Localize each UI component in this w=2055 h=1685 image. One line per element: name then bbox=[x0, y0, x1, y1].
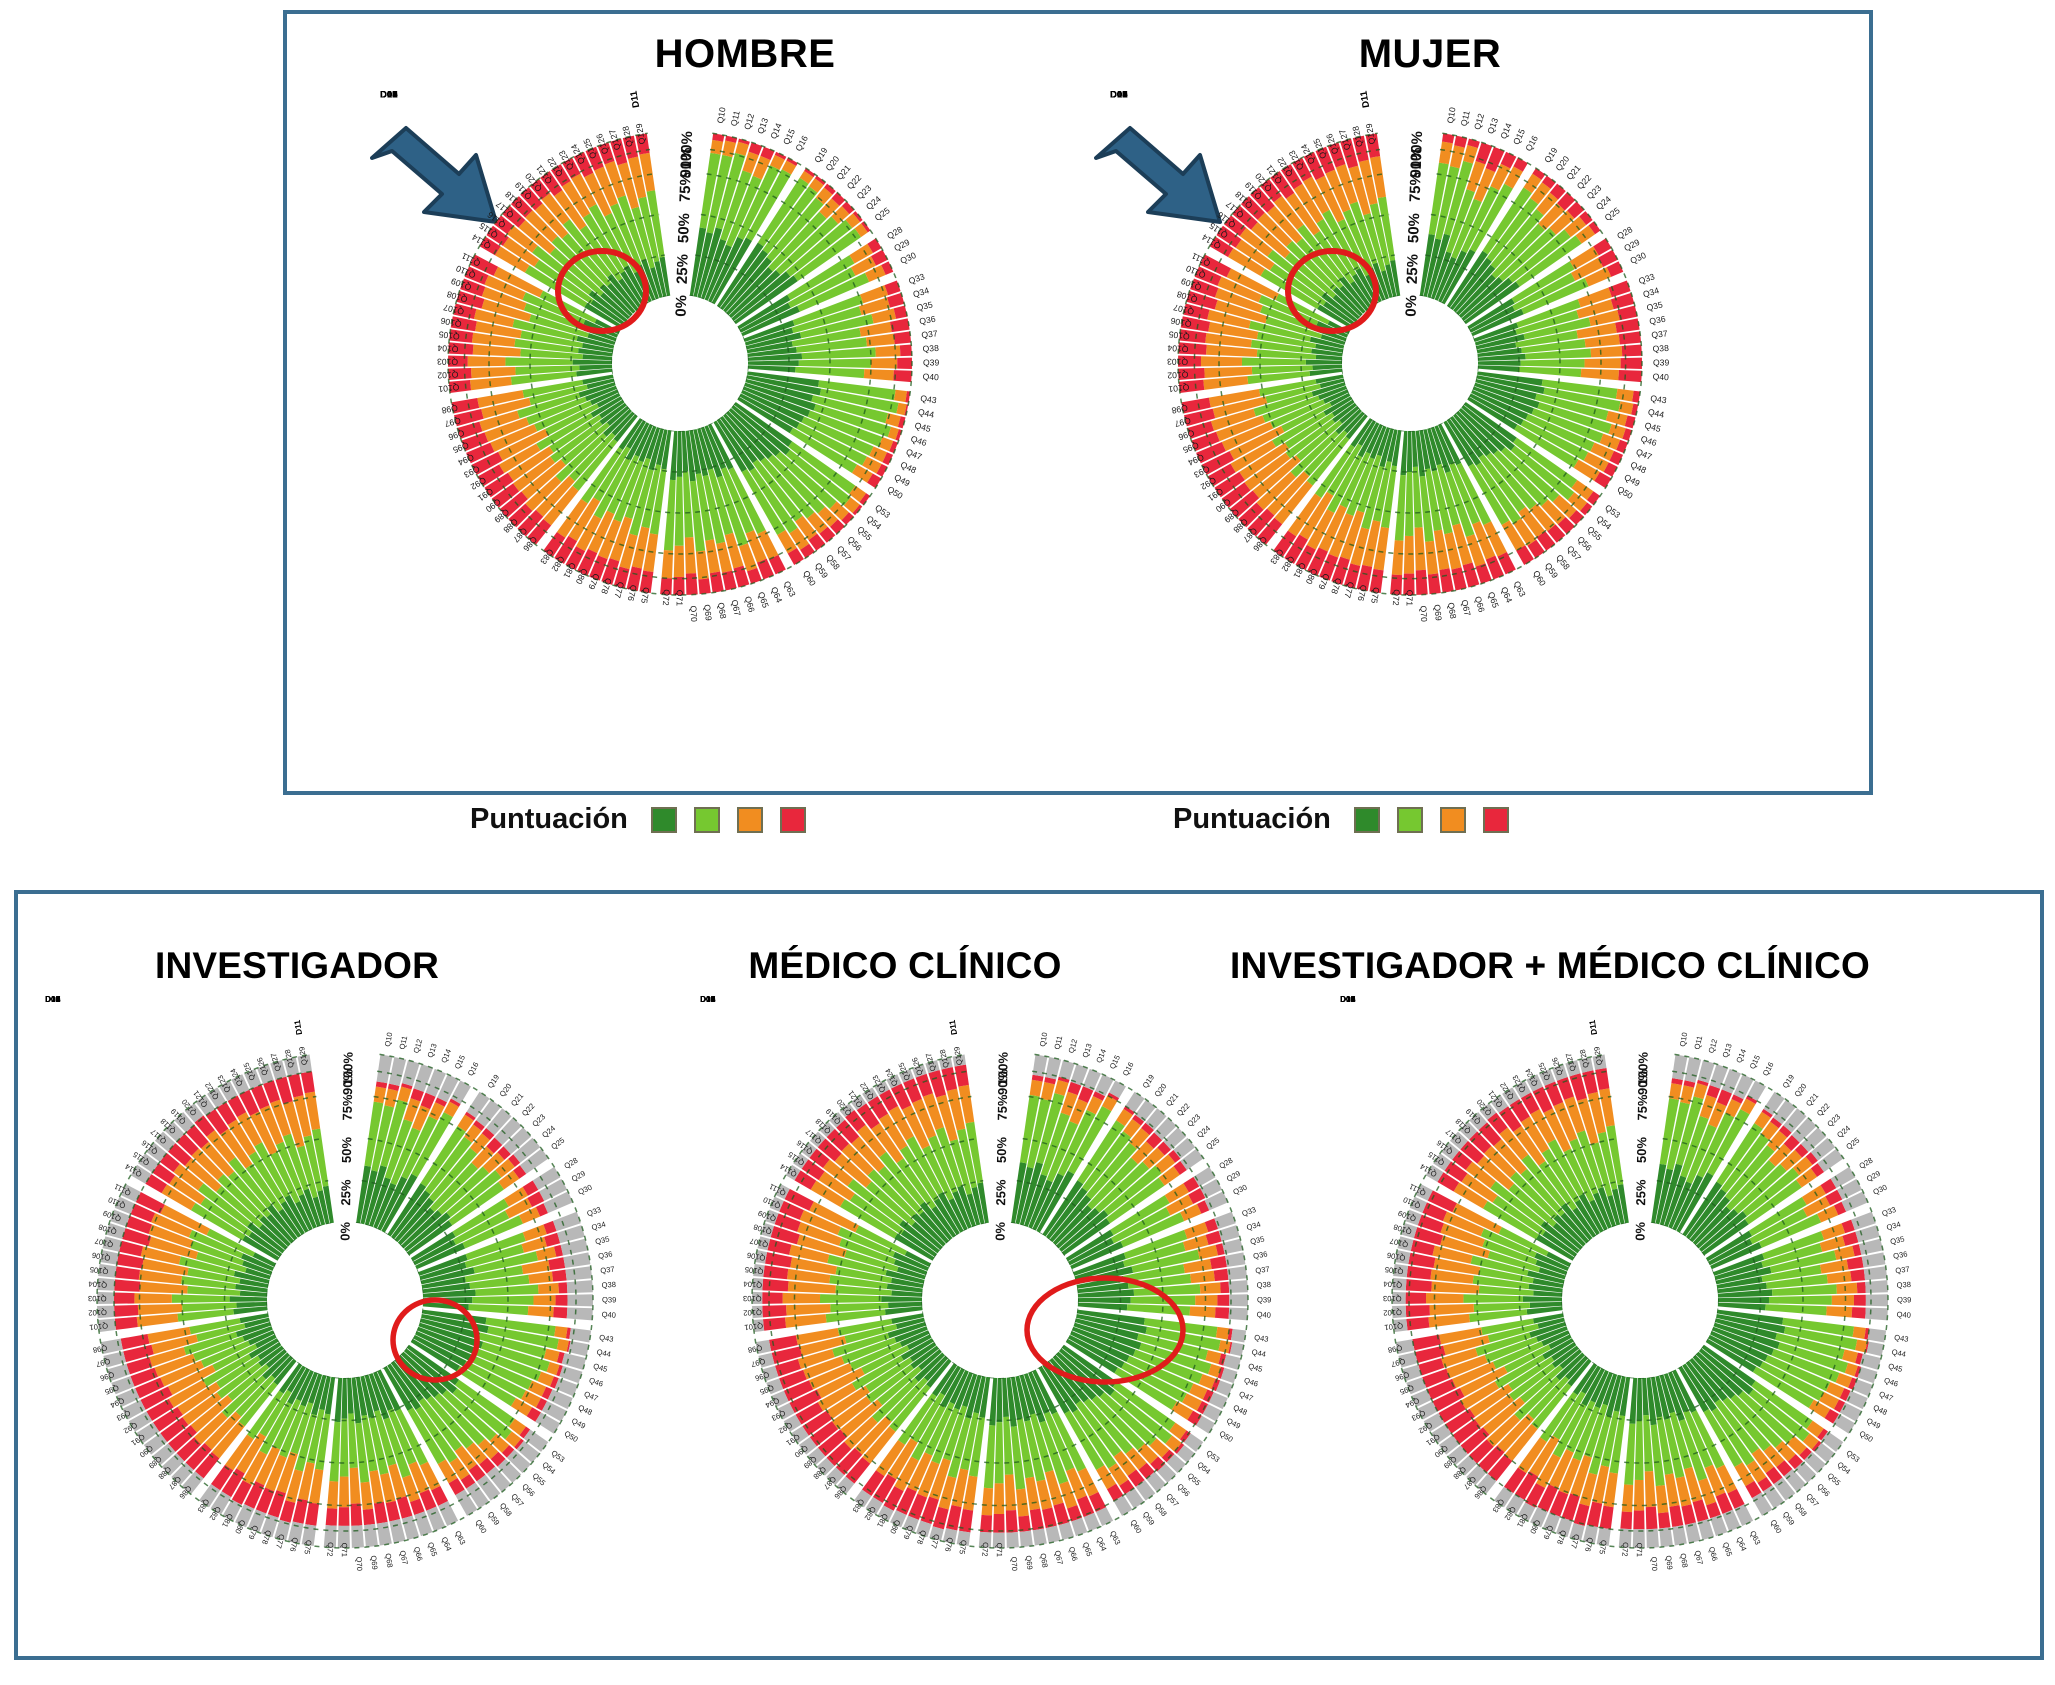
bar-segment bbox=[338, 1507, 349, 1526]
question-label: Q57 bbox=[1804, 1492, 1820, 1509]
bar-segment bbox=[1850, 1269, 1865, 1281]
question-label: Q66 bbox=[1473, 595, 1487, 614]
question-label: Q97 bbox=[1390, 1357, 1406, 1369]
question-label: Q25 bbox=[1603, 205, 1622, 223]
question-label: Q11 bbox=[1052, 1035, 1064, 1050]
bar-segment bbox=[553, 1307, 567, 1318]
question-label: Q87 bbox=[1462, 1475, 1478, 1492]
question-label: Q30 bbox=[1629, 250, 1648, 266]
question-label: Q81 bbox=[1515, 1512, 1530, 1529]
question-label: Q46 bbox=[909, 434, 928, 449]
radial-axis-labels: 0%25%50%75%90%100% bbox=[1632, 1051, 1650, 1240]
question-label: Q48 bbox=[899, 459, 918, 475]
question-label: Q14 bbox=[768, 121, 784, 140]
bar-segment bbox=[1214, 1269, 1229, 1281]
bar-segment bbox=[1220, 1282, 1229, 1293]
radial-tick-label: 0% bbox=[673, 295, 691, 317]
question-label: Q45 bbox=[914, 420, 932, 434]
question-label: Q10 bbox=[1038, 1032, 1049, 1048]
radial-tick-label: 25% bbox=[674, 254, 692, 285]
question-label: Q97 bbox=[750, 1357, 766, 1369]
radial-tick-label: 100% bbox=[1408, 131, 1426, 170]
radial-tick-label: 75% bbox=[340, 1094, 355, 1121]
question-label: Q104 bbox=[743, 1279, 762, 1289]
question-label: Q65 bbox=[1721, 1541, 1734, 1558]
radial-plot-mujer: Q10Q11Q12Q13Q14Q15Q16Q19Q20Q21Q22Q23Q24Q… bbox=[1110, 95, 1730, 615]
question-label: Q44 bbox=[917, 407, 935, 420]
question-label: Q50 bbox=[1218, 1429, 1235, 1444]
radial-axis-labels: 0%25%50%75%90%100% bbox=[992, 1051, 1010, 1240]
radial-tick-label: 0% bbox=[1632, 1221, 1647, 1240]
question-label: Q29 bbox=[570, 1169, 587, 1184]
question-label: Q60 bbox=[1531, 569, 1548, 588]
question-label: Q96 bbox=[99, 1370, 115, 1383]
question-label: Q103 bbox=[437, 357, 458, 367]
question-label: Q109 bbox=[757, 1208, 778, 1223]
question-label: Q34 bbox=[1245, 1220, 1261, 1233]
question-label: Q40 bbox=[1652, 371, 1669, 382]
radial-tick-label: 50% bbox=[675, 213, 693, 244]
radial-chart-ambos: Q10Q11Q12Q13Q14Q15Q16Q19Q20Q21Q22Q23Q24Q… bbox=[1340, 1000, 1940, 1600]
bar-segment bbox=[1865, 1308, 1888, 1321]
question-label: Q11 bbox=[1459, 109, 1472, 127]
question-label: Q50 bbox=[1616, 484, 1635, 501]
question-label: Q67 bbox=[1693, 1550, 1705, 1566]
bar-segment bbox=[567, 1280, 593, 1293]
question-label: Q16 bbox=[1121, 1061, 1136, 1078]
question-label: Q104 bbox=[437, 343, 459, 354]
question-label: Q103 bbox=[1383, 1294, 1402, 1303]
question-label: Q77 bbox=[612, 581, 626, 600]
question-label: Q39 bbox=[923, 358, 939, 368]
bar-segment bbox=[1404, 536, 1414, 574]
question-label: Q37 bbox=[1255, 1265, 1270, 1276]
question-label: Q33 bbox=[1241, 1205, 1258, 1218]
question-label: Q70 bbox=[1649, 1556, 1659, 1571]
question-label: Q11 bbox=[397, 1035, 409, 1050]
question-label: Q57 bbox=[1164, 1492, 1180, 1509]
question-label: Q25 bbox=[1844, 1136, 1861, 1152]
question-label: Q34 bbox=[1885, 1220, 1901, 1233]
question-label: Q111 bbox=[1408, 1182, 1428, 1198]
bar-segment bbox=[799, 359, 871, 368]
question-label: Q10 bbox=[383, 1032, 394, 1048]
bar-segment bbox=[820, 1294, 881, 1303]
bar-segment bbox=[471, 367, 516, 378]
question-label: Q11 bbox=[729, 109, 742, 127]
question-label: Q22 bbox=[1175, 1101, 1191, 1118]
question-label: Q110 bbox=[762, 1195, 782, 1210]
question-label: Q89 bbox=[802, 1454, 819, 1470]
question-label: Q60 bbox=[801, 569, 818, 588]
bar-segment bbox=[881, 1296, 922, 1302]
bar-segment bbox=[1635, 1420, 1644, 1480]
bar-segment bbox=[329, 1422, 340, 1482]
question-label: Q37 bbox=[1895, 1265, 1910, 1276]
question-label: Q49 bbox=[1225, 1416, 1242, 1431]
bar-segment bbox=[995, 1422, 1004, 1483]
bar-segment bbox=[762, 1292, 783, 1304]
question-label: Q95 bbox=[1399, 1383, 1416, 1397]
question-label: Q111 bbox=[113, 1182, 133, 1198]
question-label: Q129 bbox=[952, 1046, 964, 1066]
question-label: Q65 bbox=[756, 591, 771, 610]
bar-segment bbox=[1694, 1083, 1708, 1099]
question-label: Q46 bbox=[588, 1376, 604, 1389]
question-label: Q109 bbox=[102, 1208, 123, 1223]
question-label: Q98 bbox=[1387, 1343, 1403, 1355]
radial-tick-label: 25% bbox=[1633, 1179, 1648, 1206]
bar-segment bbox=[994, 1483, 1004, 1514]
question-label: Q13 bbox=[1721, 1042, 1734, 1059]
question-label: Q22 bbox=[1815, 1101, 1831, 1118]
bar-segment bbox=[894, 306, 908, 319]
question-label: Q86 bbox=[1472, 1484, 1488, 1501]
question-label: Q55 bbox=[1186, 1471, 1203, 1487]
question-label: Q103 bbox=[743, 1294, 762, 1303]
bar-segment bbox=[1407, 431, 1412, 472]
question-label: Q129 bbox=[634, 122, 647, 145]
bar-segment bbox=[1210, 1256, 1227, 1269]
bar-segment bbox=[556, 1295, 568, 1306]
question-label: Q35 bbox=[916, 299, 934, 312]
question-label: Q89 bbox=[147, 1454, 164, 1470]
bar-segment bbox=[114, 1279, 140, 1291]
question-label: Q80 bbox=[888, 1518, 902, 1535]
question-label: Q36 bbox=[1649, 314, 1667, 327]
radial-chart-medico: Q10Q11Q12Q13Q14Q15Q16Q19Q20Q21Q22Q23Q24Q… bbox=[700, 1000, 1300, 1600]
radial-tick-label: 100% bbox=[995, 1051, 1011, 1085]
question-label: Q110 bbox=[107, 1195, 127, 1210]
question-label: Q35 bbox=[1249, 1234, 1265, 1246]
bar-segment bbox=[1230, 1342, 1244, 1356]
question-label: Q56 bbox=[520, 1482, 536, 1499]
bar-segment bbox=[1591, 346, 1623, 357]
bar-segment bbox=[1478, 365, 1519, 372]
question-label: Q80 bbox=[1528, 1518, 1542, 1535]
bar-segment bbox=[1646, 1507, 1658, 1530]
question-label: Q45 bbox=[592, 1362, 608, 1374]
question-label: Q104 bbox=[1383, 1279, 1402, 1289]
question-label: Q10 bbox=[1445, 106, 1458, 124]
question-label: Q29 bbox=[1865, 1169, 1882, 1184]
bar-segment bbox=[1045, 1057, 1061, 1079]
radial-tick-label: 75% bbox=[995, 1094, 1010, 1121]
bar-segment bbox=[1415, 527, 1426, 570]
bar-segment bbox=[1681, 1504, 1696, 1525]
question-label: Q66 bbox=[1067, 1546, 1080, 1562]
question-label: Q16 bbox=[466, 1061, 481, 1078]
bar-segment bbox=[1046, 1526, 1061, 1544]
bar-segment bbox=[1204, 367, 1252, 378]
question-label: Q40 bbox=[1896, 1310, 1911, 1320]
question-label: Q13 bbox=[1081, 1042, 1094, 1059]
question-label: Q12 bbox=[1707, 1038, 1720, 1054]
question-label: Q49 bbox=[1865, 1416, 1882, 1431]
question-label: Q67 bbox=[1053, 1550, 1065, 1566]
question-label: Q21 bbox=[1164, 1091, 1180, 1108]
question-label: Q91 bbox=[785, 1432, 802, 1447]
radial-plot-ambos: Q10Q11Q12Q13Q14Q15Q16Q19Q20Q21Q22Q23Q24Q… bbox=[1340, 1000, 1940, 1600]
bar-segment bbox=[538, 1283, 559, 1294]
question-label: Q128 bbox=[938, 1049, 951, 1069]
legend-mujer: Puntuación bbox=[1173, 803, 1509, 836]
bar-segment bbox=[1621, 358, 1642, 369]
bar-segment bbox=[748, 360, 799, 366]
radial-tick-label: 25% bbox=[338, 1179, 353, 1206]
question-label: Q21 bbox=[509, 1091, 525, 1108]
bar-segment bbox=[1864, 1266, 1887, 1280]
bar-segment bbox=[1620, 1512, 1632, 1530]
question-label: Q102 bbox=[743, 1308, 762, 1318]
question-label: Q29 bbox=[1622, 237, 1641, 254]
question-label: Q60 bbox=[1768, 1518, 1783, 1535]
legend-label: Puntuación bbox=[1173, 803, 1331, 836]
question-label: Q54 bbox=[540, 1460, 557, 1476]
question-label: Q69 bbox=[1664, 1555, 1675, 1570]
question-label: Q38 bbox=[601, 1280, 616, 1290]
bar-segment bbox=[893, 370, 912, 382]
question-label: Q79 bbox=[246, 1524, 260, 1541]
question-label: Q66 bbox=[743, 595, 757, 614]
domain-labels-group: D01D02D03D04D05D06D07D08D09D10D11 bbox=[45, 994, 304, 1035]
question-label: Q102 bbox=[1383, 1308, 1402, 1318]
legend-swatch-verde-oscuro bbox=[1354, 807, 1380, 833]
question-label: Q38 bbox=[1652, 343, 1669, 354]
radial-plot-investigador: Q10Q11Q12Q13Q14Q15Q16Q19Q20Q21Q22Q23Q24Q… bbox=[45, 1000, 645, 1600]
question-label: Q63 bbox=[1108, 1529, 1122, 1546]
question-label: Q129 bbox=[1592, 1046, 1604, 1066]
question-label: Q23 bbox=[1825, 1112, 1842, 1128]
bar-segment bbox=[351, 1525, 364, 1548]
radial-tick-label: 100% bbox=[678, 131, 696, 170]
bar-segment bbox=[1862, 1252, 1886, 1267]
question-label: Q64 bbox=[440, 1536, 454, 1553]
radial-tick-label: 50% bbox=[339, 1136, 354, 1163]
bar-segment bbox=[386, 1501, 400, 1522]
legend-swatch-verde-oscuro bbox=[651, 807, 677, 833]
question-label: Q72 bbox=[1391, 589, 1402, 606]
question-label: Q72 bbox=[325, 1542, 335, 1557]
bar-segment bbox=[1306, 360, 1342, 365]
question-label: Q63 bbox=[1748, 1529, 1762, 1546]
bar-segment bbox=[1205, 1350, 1221, 1364]
bar-segment bbox=[675, 477, 684, 546]
question-label: Q70 bbox=[1418, 605, 1429, 622]
bar-segment bbox=[763, 1317, 786, 1330]
bar-segment bbox=[1392, 540, 1404, 575]
chart-hub bbox=[922, 1222, 1078, 1378]
question-label: Q37 bbox=[600, 1265, 615, 1276]
bar-segment bbox=[900, 344, 912, 356]
bar-segment bbox=[468, 356, 506, 366]
bar-segment bbox=[1836, 1283, 1857, 1294]
chart-title-medico: MÉDICO CLÍNICO bbox=[748, 945, 1061, 987]
bar-segment bbox=[1225, 1252, 1245, 1267]
bar-segment bbox=[871, 358, 897, 369]
bar-segment bbox=[505, 357, 572, 366]
domain-label: D11 bbox=[947, 1019, 959, 1036]
question-label: Q103 bbox=[88, 1294, 107, 1303]
question-label: Q66 bbox=[1707, 1546, 1720, 1562]
question-label: Q71 bbox=[340, 1543, 349, 1557]
question-label: Q47 bbox=[905, 447, 924, 462]
bar-segment bbox=[955, 1065, 969, 1087]
legend-swatch-verde-claro bbox=[1397, 807, 1423, 833]
domain-labels-group: D01D02D03D04D05D06D07D08D09D10D11 bbox=[1340, 994, 1599, 1035]
bar-segment bbox=[1769, 1296, 1832, 1305]
question-label: Q43 bbox=[1650, 393, 1668, 405]
bar-segment bbox=[786, 1304, 831, 1316]
question-label: Q108 bbox=[97, 1222, 117, 1236]
question-label: Q101 bbox=[744, 1321, 763, 1332]
question-label: Q104 bbox=[1167, 343, 1189, 354]
bar-segment bbox=[301, 1071, 315, 1093]
bar-segment bbox=[468, 1304, 528, 1315]
question-label: Q25 bbox=[873, 205, 892, 223]
question-label: Q29 bbox=[892, 237, 911, 254]
legend-swatch-naranja bbox=[1440, 807, 1466, 833]
question-label: Q109 bbox=[1397, 1208, 1418, 1223]
question-label: Q69 bbox=[1024, 1555, 1035, 1570]
question-label: Q72 bbox=[980, 1542, 990, 1557]
question-label: Q71 bbox=[995, 1543, 1004, 1557]
bar-segment bbox=[1033, 1529, 1047, 1546]
question-label: Q33 bbox=[1637, 271, 1656, 286]
bar-segment bbox=[698, 578, 711, 594]
bar-segment bbox=[1020, 1531, 1033, 1547]
question-label: Q102 bbox=[88, 1308, 107, 1318]
bar-segment bbox=[1215, 1307, 1229, 1319]
question-label: Q59 bbox=[1141, 1510, 1157, 1527]
question-label: Q14 bbox=[1498, 121, 1514, 140]
bar-segment bbox=[1842, 1349, 1858, 1363]
question-label: Q54 bbox=[1835, 1460, 1852, 1476]
question-label: Q39 bbox=[1653, 358, 1669, 368]
question-label: Q47 bbox=[1878, 1389, 1895, 1403]
question-label: Q35 bbox=[1889, 1234, 1905, 1246]
question-label: Q11 bbox=[1692, 1035, 1704, 1050]
bar-segment bbox=[1656, 1485, 1669, 1513]
bar-segment bbox=[114, 1305, 138, 1317]
bar-segment bbox=[894, 390, 907, 402]
question-label: Q49 bbox=[570, 1416, 587, 1431]
question-label: Q23 bbox=[1185, 1112, 1202, 1128]
radial-chart-investigador: Q10Q11Q12Q13Q14Q15Q16Q19Q20Q21Q22Q23Q24Q… bbox=[45, 1000, 645, 1600]
question-label: Q98 bbox=[1171, 403, 1189, 416]
question-label: Q47 bbox=[583, 1389, 600, 1403]
bar-segment bbox=[567, 1307, 593, 1320]
bar-segment bbox=[1581, 369, 1619, 380]
question-label: Q25 bbox=[1204, 1136, 1221, 1152]
legend-swatch-rojo bbox=[780, 807, 806, 833]
question-label: Q29 bbox=[1225, 1169, 1242, 1184]
bar-segment bbox=[864, 369, 894, 380]
question-label: Q67 bbox=[1459, 599, 1472, 617]
chart-title-mujer: MUJER bbox=[1359, 32, 1502, 77]
question-label: Q37 bbox=[1651, 328, 1668, 340]
bar-segment bbox=[1439, 568, 1453, 592]
question-label: Q77 bbox=[1342, 581, 1356, 600]
question-label: Q91 bbox=[1425, 1432, 1442, 1447]
question-label: Q82 bbox=[863, 1505, 878, 1522]
question-label: Q13 bbox=[755, 116, 770, 135]
question-label: Q38 bbox=[1256, 1280, 1271, 1290]
question-label: Q60 bbox=[473, 1518, 488, 1535]
bar-segment bbox=[1672, 1055, 1687, 1080]
question-label: Q38 bbox=[922, 343, 939, 354]
bar-segment bbox=[989, 1378, 997, 1426]
bar-segment bbox=[138, 1304, 183, 1315]
bar-segment bbox=[363, 1509, 375, 1525]
question-label: Q110 bbox=[1402, 1195, 1422, 1210]
radial-chart-mujer: Q10Q11Q12Q13Q14Q15Q16Q19Q20Q21Q22Q23Q24Q… bbox=[1110, 95, 1730, 615]
question-label: Q43 bbox=[920, 393, 938, 405]
question-label: Q89 bbox=[1442, 1454, 1459, 1470]
question-label: Q56 bbox=[1815, 1482, 1831, 1499]
question-label: Q44 bbox=[1647, 407, 1665, 420]
question-label: Q16 bbox=[793, 134, 810, 153]
bar-segment bbox=[115, 1317, 138, 1330]
bar-segment bbox=[1857, 1282, 1866, 1293]
question-label: Q65 bbox=[1081, 1541, 1094, 1558]
question-label: Q53 bbox=[1205, 1448, 1222, 1464]
radial-tick-label: 0% bbox=[992, 1221, 1007, 1240]
bar-segment bbox=[557, 1339, 569, 1352]
bar-segment bbox=[1201, 356, 1242, 366]
bar-segment bbox=[364, 1524, 378, 1547]
bar-segment bbox=[1439, 142, 1453, 165]
question-label: Q72 bbox=[1620, 1542, 1630, 1557]
question-label: Q50 bbox=[1858, 1429, 1875, 1444]
bar-segment bbox=[470, 377, 512, 391]
bar-segment bbox=[573, 360, 612, 365]
bar-segment bbox=[565, 1266, 592, 1280]
question-label: Q30 bbox=[1232, 1183, 1249, 1197]
bar-segment bbox=[710, 140, 723, 155]
bar-segment bbox=[398, 1086, 412, 1102]
bar-segment bbox=[544, 1233, 560, 1247]
question-label: Q87 bbox=[822, 1475, 838, 1492]
question-label: Q101 bbox=[1384, 1321, 1403, 1332]
radial-axis-labels: 0%25%50%75%90%100% bbox=[337, 1051, 355, 1240]
question-label: Q53 bbox=[550, 1448, 567, 1464]
radial-tick-label: 0% bbox=[337, 1221, 352, 1240]
question-label: Q40 bbox=[601, 1310, 616, 1320]
bar-segment bbox=[472, 1296, 533, 1305]
question-label: Q101 bbox=[438, 382, 460, 394]
question-label: Q70 bbox=[1009, 1556, 1019, 1571]
domain-label: D11 bbox=[1587, 1019, 1599, 1036]
chart-hub bbox=[267, 1222, 423, 1378]
question-label: Q70 bbox=[354, 1556, 364, 1571]
question-label: Q22 bbox=[520, 1101, 536, 1118]
bar-segment bbox=[1217, 1295, 1229, 1306]
bar-segment bbox=[1866, 1294, 1888, 1306]
question-label: Q68 bbox=[1678, 1553, 1689, 1569]
bar-segment bbox=[554, 1326, 567, 1338]
question-label: Q65 bbox=[1486, 591, 1501, 610]
question-label: Q68 bbox=[383, 1553, 394, 1569]
question-label: Q79 bbox=[1541, 1524, 1555, 1541]
bar-segment bbox=[1852, 1307, 1866, 1318]
question-label: Q86 bbox=[832, 1484, 848, 1501]
bar-segment bbox=[339, 1477, 349, 1508]
question-label: Q64 bbox=[769, 585, 785, 604]
question-label: Q15 bbox=[1108, 1054, 1122, 1071]
bar-segment bbox=[677, 431, 683, 477]
question-label: Q95 bbox=[759, 1383, 776, 1397]
